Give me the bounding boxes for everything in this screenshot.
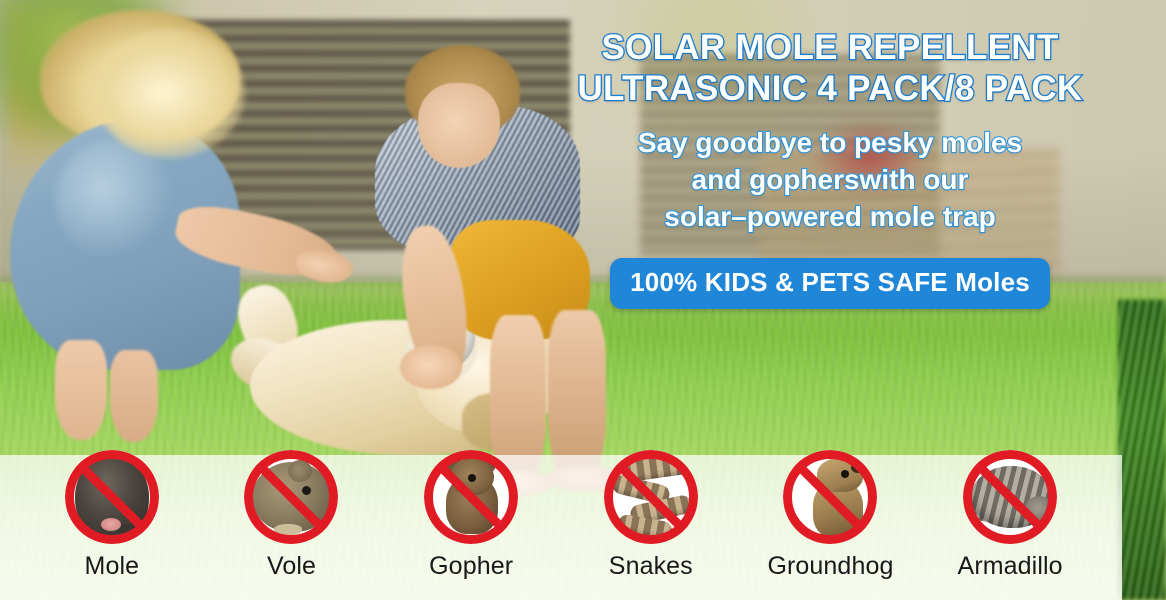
no-groundhog-icon (783, 450, 877, 544)
girl-hand (293, 245, 356, 287)
safety-badge: 100% KIDS & PETS SAFE Moles (610, 258, 1050, 309)
product-banner: SOLAR MOLE REPELLENT ULTRASONIC 4 PACK/8… (0, 0, 1166, 600)
pest-label: Groundhog (767, 552, 893, 581)
girl-hair-front (95, 28, 245, 158)
safety-badge-row: 100% KIDS & PETS SAFE Moles (510, 258, 1150, 309)
pest-item-groundhog: Groundhog (755, 450, 905, 581)
pest-label: Mole (85, 552, 140, 581)
no-vole-icon (244, 450, 338, 544)
pest-item-gopher: Gopher (396, 450, 546, 581)
pest-item-armadillo: Armadillo (935, 450, 1085, 581)
subheading-line-1: Say goodbye to pesky moles (510, 125, 1150, 162)
dark-grass-right-texture (1118, 300, 1166, 600)
girl-dress-highlight (55, 140, 175, 260)
marketing-copy: SOLAR MOLE REPELLENT ULTRASONIC 4 PACK/8… (510, 28, 1150, 309)
no-snakes-icon (604, 450, 698, 544)
boy-head (418, 83, 500, 168)
boy-hand (400, 345, 462, 389)
headline: SOLAR MOLE REPELLENT ULTRASONIC 4 PACK/8… (510, 28, 1150, 109)
no-gopher-icon (424, 450, 518, 544)
pest-label: Snakes (609, 552, 693, 581)
subheading: Say goodbye to pesky moles and gopherswi… (510, 125, 1150, 236)
headline-line-2: ULTRASONIC 4 PACK/8 PACK (510, 69, 1150, 110)
girl-leg-right (110, 350, 158, 442)
subheading-line-2: and gopherswith our (510, 162, 1150, 199)
pest-item-vole: Vole (216, 450, 366, 581)
subheading-line-3: solar–powered mole trap (510, 199, 1150, 236)
girl-leg-left (55, 340, 107, 440)
pest-label: Vole (267, 552, 316, 581)
no-armadillo-icon (963, 450, 1057, 544)
headline-line-1: SOLAR MOLE REPELLENT (510, 28, 1150, 69)
no-mole-icon (65, 450, 159, 544)
pest-label: Gopher (429, 552, 513, 581)
pest-label: Armadillo (958, 552, 1063, 581)
pest-item-mole: Mole (37, 450, 187, 581)
pest-item-snakes: Snakes (576, 450, 726, 581)
pest-list: Mole Vole (0, 450, 1122, 600)
